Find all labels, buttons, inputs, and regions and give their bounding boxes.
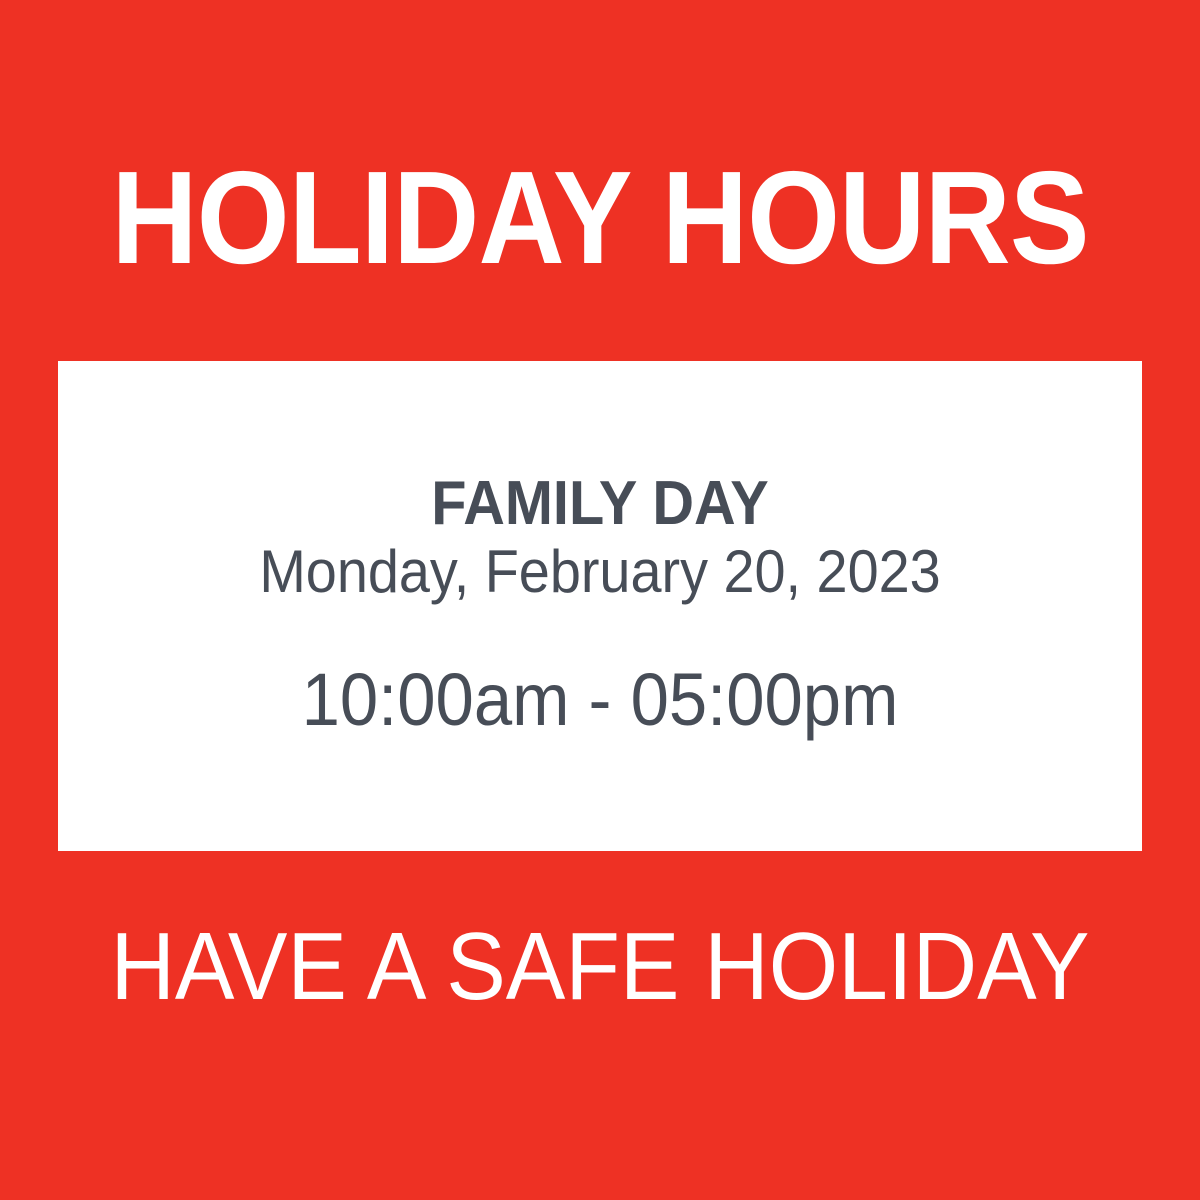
holiday-hours-range: 10:00am - 05:00pm [96, 660, 1104, 740]
holiday-hours-poster: HOLIDAY HOURS FAMILY DAY Monday, Februar… [0, 0, 1200, 1200]
holiday-info-content: FAMILY DAY Monday, February 20, 2023 10:… [58, 472, 1142, 740]
holiday-info-card: FAMILY DAY Monday, February 20, 2023 10:… [58, 361, 1142, 851]
page-title: HOLIDAY HOURS [57, 148, 1143, 288]
holiday-name: FAMILY DAY [96, 472, 1104, 536]
content-spacer [58, 608, 1142, 660]
footer-message: HAVE A SAFE HOLIDAY [42, 912, 1158, 1022]
holiday-date: Monday, February 20, 2023 [96, 536, 1104, 608]
